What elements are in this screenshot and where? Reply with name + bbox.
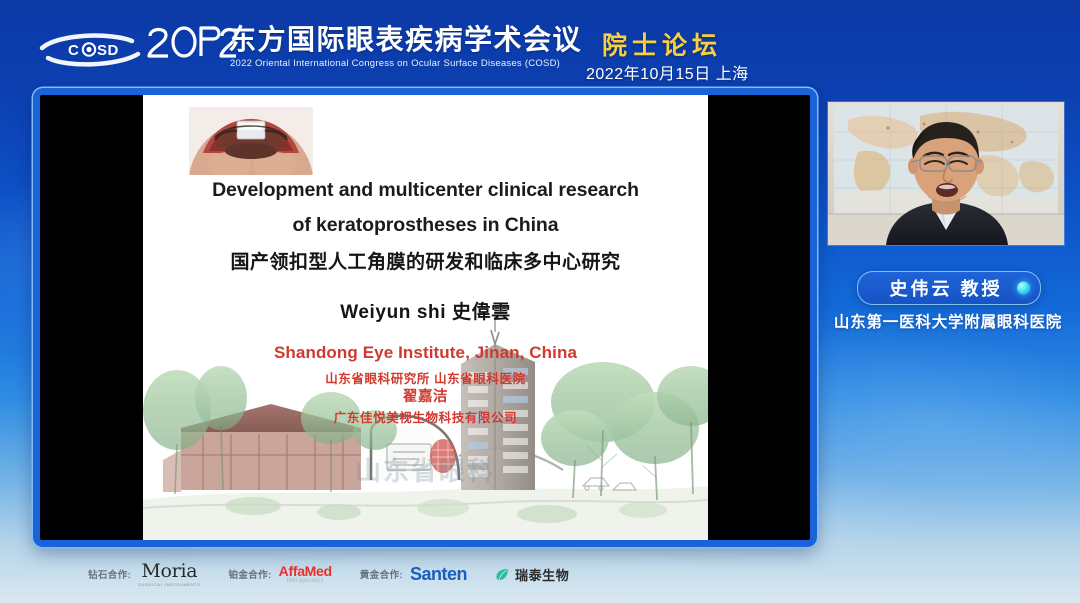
sponsor-tier-label: 铂金合作:	[228, 567, 271, 581]
slide-title-cn: 国产领扣型人工角膜的研发和临床多中心研究	[143, 247, 708, 274]
year-2022-mark-icon	[146, 22, 238, 68]
congress-title-en: 2022 Oriental International Congress on …	[230, 58, 560, 69]
slide-affiliation-secondary-cn: 广东佳悦美视生物科技有限公司	[143, 407, 708, 426]
slide-author: Weiyun shi 史偉雲	[143, 297, 708, 324]
moria-logo-subtext: SURGICAL INSTRUMENTS	[138, 582, 200, 587]
ruitai-logo-text: 瑞泰生物	[515, 565, 569, 584]
congress-title-cn: 东方国际眼表疾病学术会议	[228, 24, 582, 56]
santen-logo-text: Santen	[410, 565, 467, 583]
sponsor-tier-label: 黄金合作:	[360, 567, 403, 581]
slide-content-area: 山东省眼科	[143, 95, 708, 540]
svg-text:SD: SD	[97, 42, 119, 59]
broadcast-stage: C SD 东方国际眼表疾病学术会议 2022 Oriental Internat…	[0, 0, 1080, 603]
svg-text:山东省眼科: 山东省眼科	[355, 456, 495, 487]
speaker-name-badge: 史伟云 教授	[857, 271, 1041, 305]
sponsor-platinum: 铂金合作: AffaMed therapeutics	[228, 564, 331, 584]
speaker-video-feed[interactable]	[828, 102, 1064, 245]
forum-title: 院士论坛	[602, 26, 722, 62]
event-header: C SD 东方国际眼表疾病学术会议 2022 Oriental Internat…	[0, 0, 1080, 90]
speaker-organization: 山东第一医科大学附属眼科医院	[828, 310, 1068, 332]
svg-text:C: C	[68, 42, 79, 59]
live-indicator-dot-icon	[1017, 282, 1030, 295]
sponsor-tier-label: 钻石合作:	[88, 567, 131, 581]
sponsor-bar: 钻石合作: Moria SURGICAL INSTRUMENTS 铂金合作: A…	[0, 545, 1080, 603]
slide-affiliation-en: Shandong Eye Institute, Jinan, China	[143, 343, 708, 363]
sponsor-ruitai: 瑞泰生物	[495, 565, 569, 584]
sponsor-gold: 黄金合作: Santen	[360, 565, 467, 583]
sponsor-diamond: 钻石合作: Moria SURGICAL INSTRUMENTS	[88, 562, 200, 587]
forum-date: 2022年10月15日 上海	[586, 60, 749, 84]
eye-keratoprosthesis-diagram-icon	[189, 107, 313, 175]
slide-author-secondary: 翟嘉洁	[143, 385, 708, 406]
cosd-eye-logo-icon: C SD	[38, 28, 142, 70]
moria-logo-icon: Moria SURGICAL INSTRUMENTS	[138, 562, 200, 587]
affamed-logo-text: AffaMed	[279, 564, 332, 578]
affamed-logo-icon: AffaMed therapeutics	[279, 564, 332, 584]
affamed-logo-subtext: therapeutics	[286, 578, 324, 584]
santen-logo-icon: Santen	[410, 565, 467, 583]
slide-surface: 山东省眼科	[40, 95, 810, 540]
ruitai-leaf-icon	[495, 567, 510, 582]
slide-title-en-line1: Development and multicenter clinical res…	[143, 179, 708, 202]
slide-title-en-line2: of keratoprostheses in China	[143, 214, 708, 237]
moria-logo-text: Moria	[141, 562, 197, 581]
speaker-name: 史伟云 教授	[883, 275, 1014, 301]
presentation-slide-frame[interactable]: 山东省眼科	[33, 88, 817, 547]
